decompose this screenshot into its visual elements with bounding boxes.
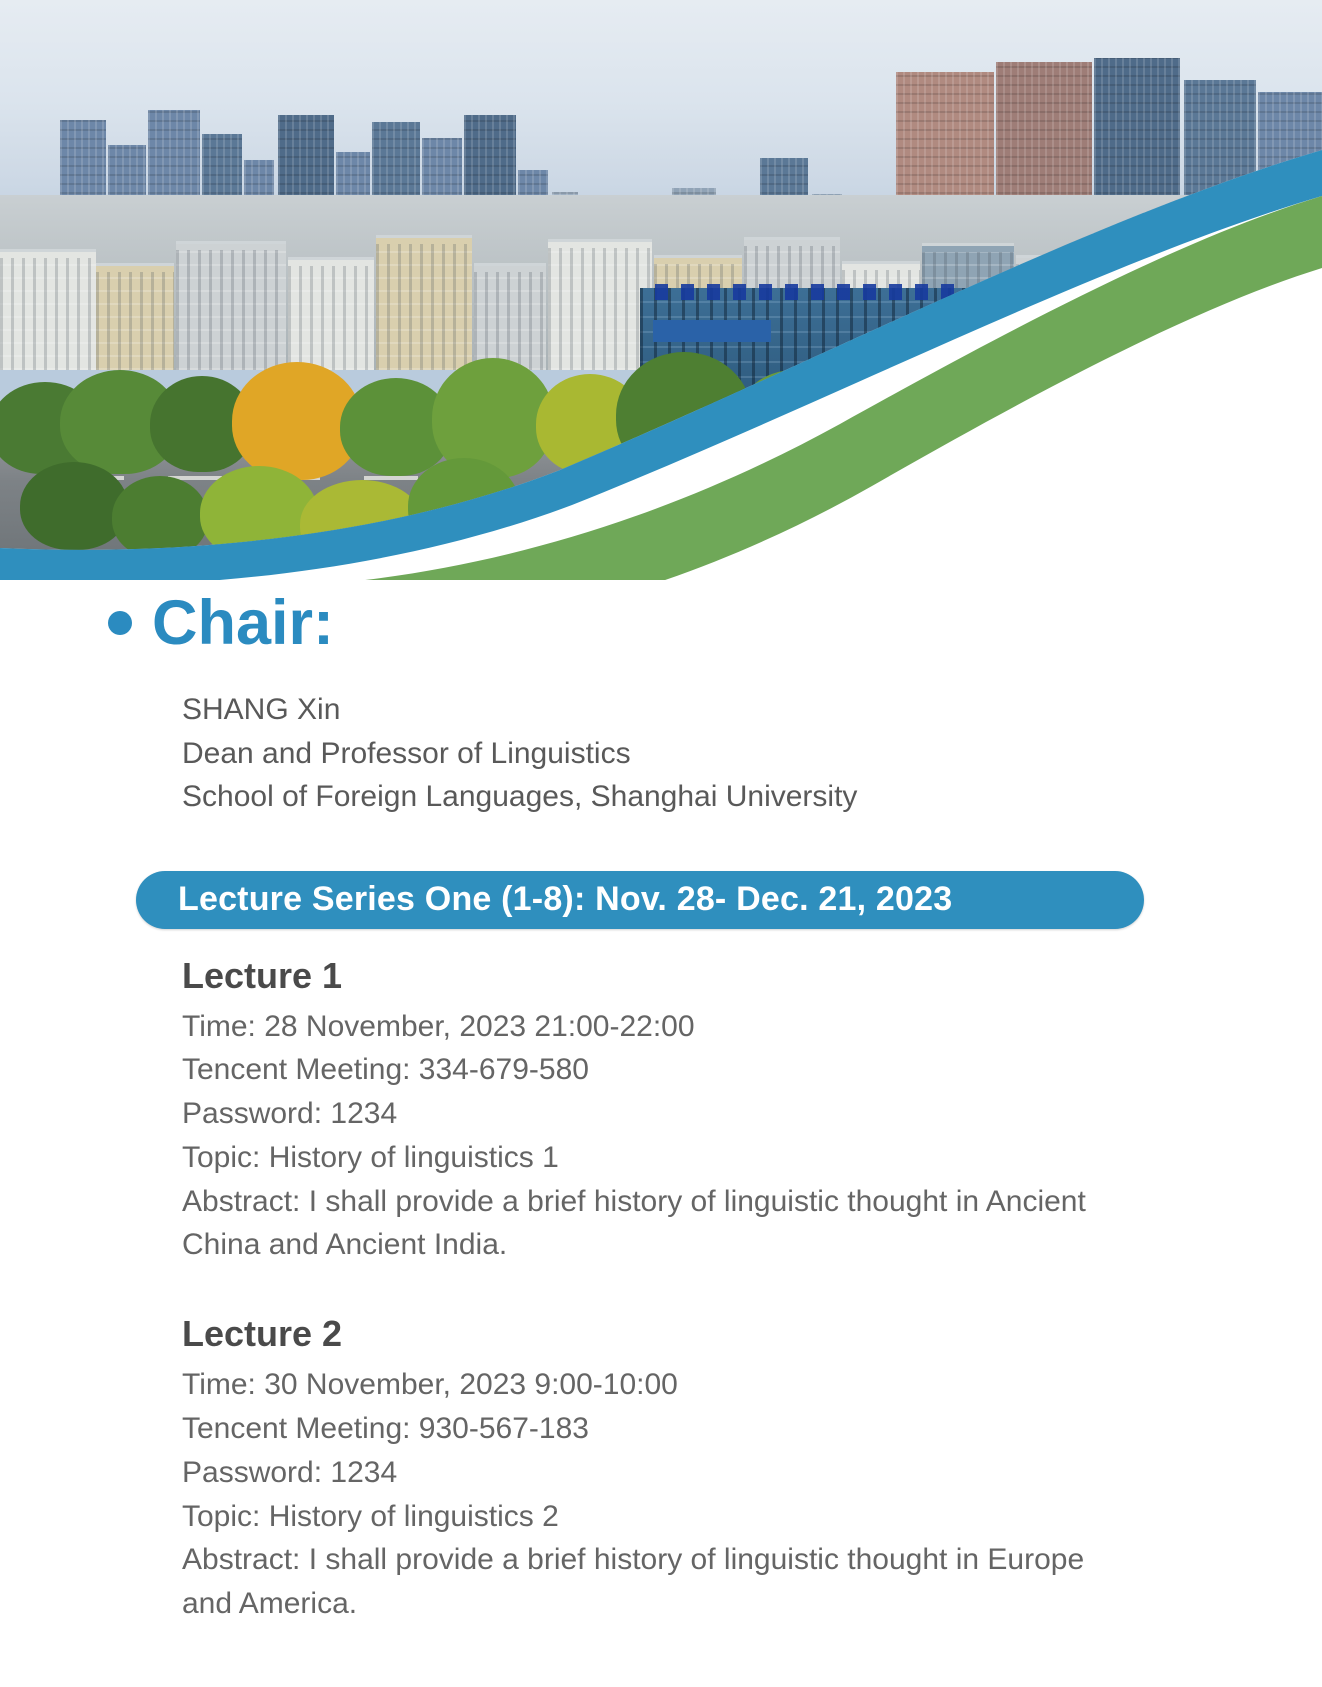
foreground-trees: [0, 400, 1322, 560]
lecture-time: Time: 28 November, 2023 21:00-22:00: [182, 1005, 1112, 1049]
cityscape-photo: [0, 0, 1322, 560]
lecture-title: Lecture 2: [182, 1313, 1112, 1355]
chair-heading: Chair:: [108, 580, 1322, 666]
chair-details: SHANG Xin Dean and Professor of Linguist…: [182, 688, 1322, 819]
header-banner: [0, 0, 1322, 580]
lecture-meeting-id: Tencent Meeting: 334-679-580: [182, 1048, 1112, 1092]
lecture-abstract: Abstract: I shall provide a brief histor…: [182, 1538, 1112, 1626]
lecture-time: Time: 30 November, 2023 9:00-10:00: [182, 1363, 1112, 1407]
lecture-password: Password: 1234: [182, 1092, 1112, 1136]
wall-sign: [653, 320, 771, 342]
lecture-password: Password: 1234: [182, 1451, 1112, 1495]
chair-role: Dean and Professor of Linguistics: [182, 732, 1322, 776]
bullet-dot-icon: [108, 611, 132, 635]
chair-title: Chair:: [152, 592, 334, 655]
chair-affiliation: School of Foreign Languages, Shanghai Un…: [182, 775, 1322, 819]
lecture-topic: Topic: History of linguistics 2: [182, 1495, 1112, 1539]
lecture-series-banner-label: Lecture Series One (1-8): Nov. 28- Dec. …: [178, 880, 952, 919]
lecture-item: Lecture 2 Time: 30 November, 2023 9:00-1…: [182, 1313, 1112, 1626]
lecture-title: Lecture 1: [182, 955, 1112, 997]
lecture-item: Lecture 1 Time: 28 November, 2023 21:00-…: [182, 955, 1112, 1268]
lecture-series-banner: Lecture Series One (1-8): Nov. 28- Dec. …: [136, 871, 1144, 929]
rooftop-sign: [655, 284, 955, 300]
lecture-list: Lecture 1 Time: 28 November, 2023 21:00-…: [182, 955, 1112, 1627]
lecture-meeting-id: Tencent Meeting: 930-567-183: [182, 1407, 1112, 1451]
lecture-abstract: Abstract: I shall provide a brief histor…: [182, 1180, 1112, 1268]
poster-body: Chair: SHANG Xin Dean and Professor of L…: [0, 580, 1322, 1672]
lecture-topic: Topic: History of linguistics 1: [182, 1136, 1112, 1180]
chair-name: SHANG Xin: [182, 688, 1322, 732]
poster-page: Chair: SHANG Xin Dean and Professor of L…: [0, 0, 1322, 1687]
brick-building: [1052, 282, 1192, 412]
